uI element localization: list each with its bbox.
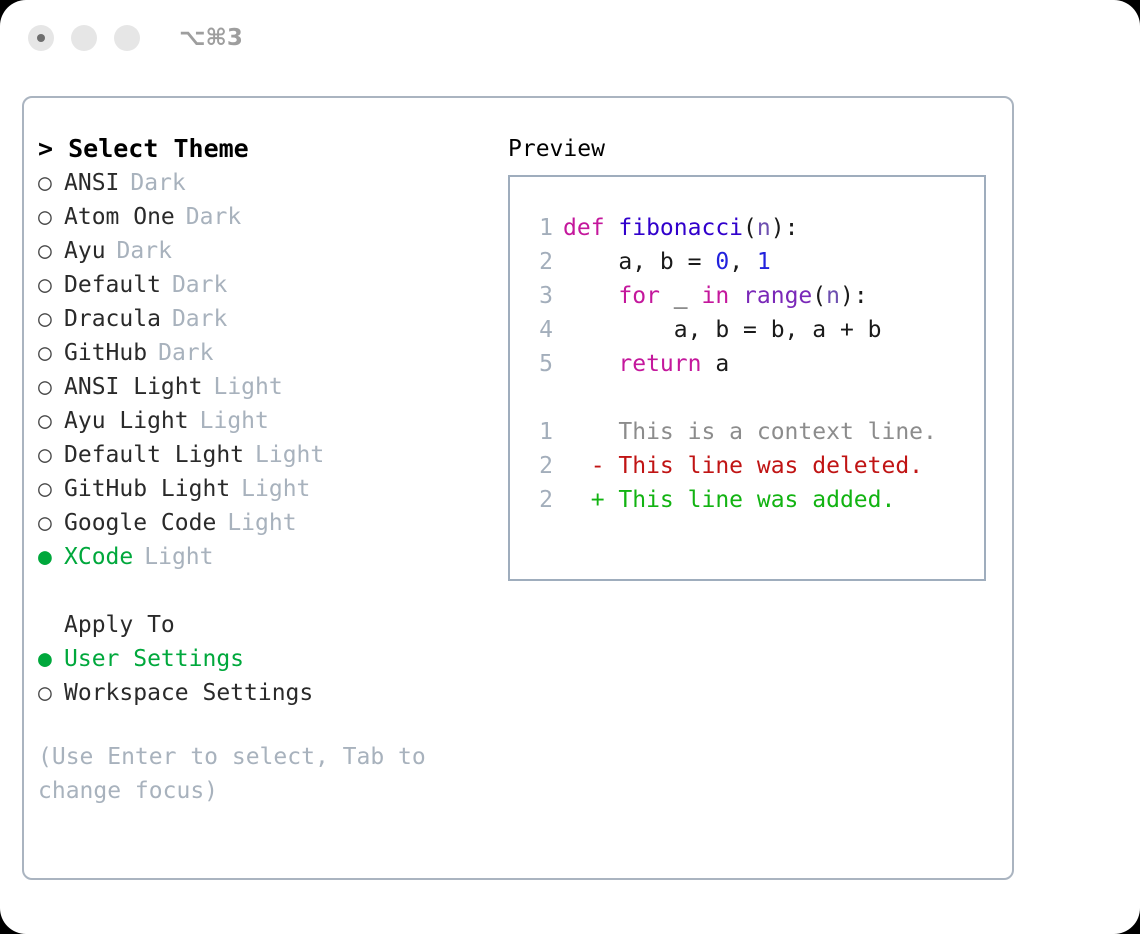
theme-option-ansi[interactable]: ○ANSIDark (38, 166, 508, 200)
traffic-light-dot (37, 34, 45, 42)
code-token-num: 1 (757, 249, 771, 275)
line-number: 1 (527, 211, 553, 245)
theme-option-default[interactable]: ○DefaultDark (38, 268, 508, 302)
app-window: ⌥⌘3 > Select Theme ○ANSIDark○Atom OneDar… (0, 0, 1140, 934)
radio-unselected-icon: ○ (38, 370, 64, 404)
line-number: 4 (527, 313, 553, 347)
line-number: 2 (527, 245, 553, 279)
theme-variant-badge: Dark (186, 200, 241, 234)
select-theme-heading: > Select Theme (38, 132, 508, 166)
theme-option-label: Ayu (64, 234, 106, 268)
theme-option-github[interactable]: ○GitHubDark (38, 336, 508, 370)
theme-variant-badge: Dark (117, 234, 172, 268)
apply-to-option-workspace-settings[interactable]: ○Workspace Settings (38, 676, 508, 710)
code-token-plain (563, 283, 618, 309)
radio-selected-icon: ● (38, 540, 64, 574)
code-token-plain: ( (812, 283, 826, 309)
theme-option-ayu[interactable]: ○AyuDark (38, 234, 508, 268)
diff-line-add: 2 + This line was added. (527, 483, 984, 517)
keyboard-chord-label: ⌥⌘3 (179, 25, 243, 51)
code-token-kw: for (618, 283, 660, 309)
code-token-kw: return (618, 351, 701, 377)
theme-option-label: Dracula (64, 302, 161, 336)
radio-unselected-icon: ○ (38, 336, 64, 370)
theme-list[interactable]: ○ANSIDark○Atom OneDark○AyuDark○DefaultDa… (38, 166, 508, 574)
code-line: 4 a, b = b, a + b (527, 313, 984, 347)
theme-variant-badge: Dark (158, 336, 213, 370)
code-token-plain: , (729, 249, 757, 275)
theme-option-ayu-light[interactable]: ○Ayu LightLight (38, 404, 508, 438)
code-token-plain: ( (743, 215, 757, 241)
radio-unselected-icon: ○ (38, 676, 64, 710)
diff-line-del: 2 - This line was deleted. (527, 449, 984, 483)
code-token-kw: in (701, 283, 729, 309)
theme-option-label: Default Light (64, 438, 244, 472)
theme-variant-badge: Dark (130, 166, 185, 200)
code-line: 1def fibonacci(n): (527, 211, 984, 245)
theme-option-label: GitHub (64, 336, 147, 370)
code-token-fn: fibonacci (618, 215, 743, 241)
radio-unselected-icon: ○ (38, 404, 64, 438)
radio-unselected-icon: ○ (38, 200, 64, 234)
theme-option-atom-one[interactable]: ○Atom OneDark (38, 200, 508, 234)
theme-picker-column: > Select Theme ○ANSIDark○Atom OneDark○Ay… (38, 132, 508, 808)
theme-option-label: Google Code (64, 506, 216, 540)
theme-option-xcode[interactable]: ●XCodeLight (38, 540, 508, 574)
title-bar: ⌥⌘3 (0, 0, 1140, 76)
preview-heading: Preview (508, 132, 1008, 166)
line-number: 3 (527, 279, 553, 313)
code-token-plain: _ (660, 283, 702, 309)
diff-sample: 1 This is a context line.2 - This line w… (527, 415, 984, 517)
diff-text: + This line was added. (563, 487, 895, 513)
code-token-plain: ): (771, 215, 799, 241)
theme-option-label: ANSI (64, 166, 119, 200)
theme-variant-badge: Light (255, 438, 324, 472)
code-token-plain: a (701, 351, 729, 377)
radio-unselected-icon: ○ (38, 234, 64, 268)
line-number: 1 (527, 415, 553, 449)
line-number: 5 (527, 347, 553, 381)
code-token-plain: a, b = (563, 249, 715, 275)
code-token-plain: a, b = b, a + b (563, 317, 882, 343)
theme-variant-badge: Light (213, 370, 282, 404)
radio-unselected-icon: ○ (38, 268, 64, 302)
code-token-num: 0 (715, 249, 729, 275)
code-token-plain (563, 351, 618, 377)
line-number: 2 (527, 449, 553, 483)
apply-to-heading: Apply To (38, 608, 508, 642)
theme-variant-badge: Light (200, 404, 269, 438)
theme-variant-badge: Dark (172, 302, 227, 336)
theme-variant-badge: Light (144, 540, 213, 574)
apply-to-option-label: Workspace Settings (64, 676, 313, 710)
apply-to-list[interactable]: ●User Settings○Workspace Settings (38, 642, 508, 710)
code-line: 3 for _ in range(n): (527, 279, 984, 313)
radio-unselected-icon: ○ (38, 506, 64, 540)
code-sample: 1def fibonacci(n):2 a, b = 0, 13 for _ i… (527, 211, 984, 381)
preview-box: 1def fibonacci(n):2 a, b = 0, 13 for _ i… (508, 175, 986, 581)
apply-to-option-user-settings[interactable]: ●User Settings (38, 642, 508, 676)
traffic-light-third-icon[interactable] (114, 25, 140, 51)
theme-variant-badge: Light (227, 506, 296, 540)
code-token-bi: range (743, 283, 812, 309)
code-token-plain (729, 283, 743, 309)
preview-spacer (527, 381, 984, 415)
code-token-plain: ): (840, 283, 868, 309)
diff-text: This is a context line. (563, 419, 937, 445)
preview-column: Preview 1def fibonacci(n):2 a, b = 0, 13… (508, 132, 1008, 808)
code-token-param: n (826, 283, 840, 309)
theme-option-label: Ayu Light (64, 404, 189, 438)
code-token-kw: def (563, 215, 618, 241)
line-number: 2 (527, 483, 553, 517)
radio-unselected-icon: ○ (38, 302, 64, 336)
theme-option-dracula[interactable]: ○DraculaDark (38, 302, 508, 336)
theme-option-github-light[interactable]: ○GitHub LightLight (38, 472, 508, 506)
radio-unselected-icon: ○ (38, 472, 64, 506)
apply-to-option-label: User Settings (64, 642, 244, 676)
theme-option-default-light[interactable]: ○Default LightLight (38, 438, 508, 472)
theme-option-google-code[interactable]: ○Google CodeLight (38, 506, 508, 540)
code-token-param: n (757, 215, 771, 241)
theme-option-label: Atom One (64, 200, 175, 234)
traffic-light-active-icon[interactable] (28, 25, 54, 51)
diff-line-ctx: 1 This is a context line. (527, 415, 984, 449)
radio-selected-icon: ● (38, 642, 64, 676)
theme-variant-badge: Dark (172, 268, 227, 302)
theme-option-label: ANSI Light (64, 370, 202, 404)
diff-text: - This line was deleted. (563, 453, 923, 479)
theme-variant-badge: Light (241, 472, 310, 506)
theme-option-label: Default (64, 268, 161, 302)
theme-option-label: GitHub Light (64, 472, 230, 506)
keyboard-hint: (Use Enter to select, Tab to change focu… (38, 740, 448, 808)
traffic-light-second-icon[interactable] (71, 25, 97, 51)
theme-option-label: XCode (64, 540, 133, 574)
traffic-lights (28, 25, 140, 51)
code-line: 2 a, b = 0, 1 (527, 245, 984, 279)
dialog-panel: > Select Theme ○ANSIDark○Atom OneDark○Ay… (22, 96, 1014, 880)
code-line: 5 return a (527, 347, 984, 381)
theme-option-ansi-light[interactable]: ○ANSI LightLight (38, 370, 508, 404)
radio-unselected-icon: ○ (38, 438, 64, 472)
radio-unselected-icon: ○ (38, 166, 64, 200)
